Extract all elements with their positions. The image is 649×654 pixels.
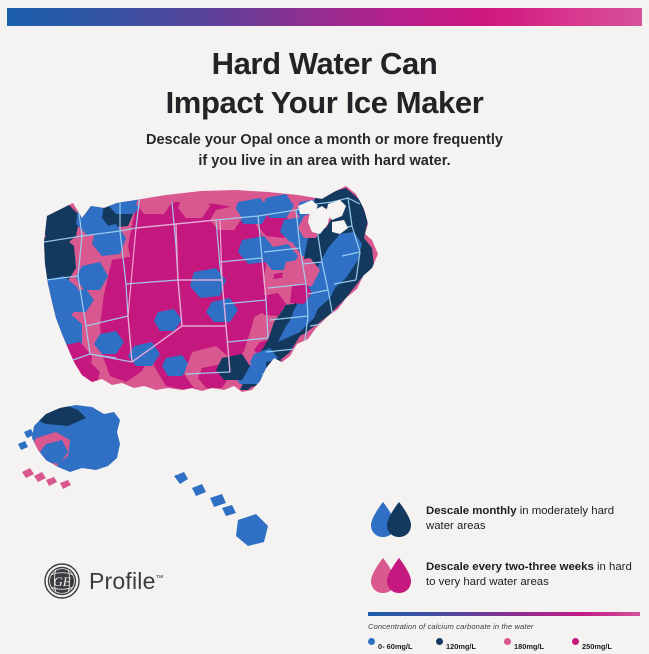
svg-text:GE: GE (53, 574, 70, 589)
subtitle-line-1: Descale your Opal once a month or more f… (0, 130, 649, 151)
page-title: Hard Water Can Impact Your Ice Maker (0, 44, 649, 122)
swatch-value-hard: 180mg/L (514, 642, 544, 651)
swatch-very-hard: 250mg/L (Very Hard) (572, 636, 640, 654)
scale-caption: Concentration of calcium carbonate in th… (368, 622, 640, 631)
brand-trademark: ™ (156, 573, 164, 582)
swatch-dot-moderately-hard (436, 638, 443, 645)
concentration-scale-bar (368, 612, 640, 616)
swatch-value-soft: 0- 60mg/L (378, 642, 413, 651)
legend-text-moderate: Descale monthly in moderately hard water… (426, 500, 640, 534)
map-alaska (16, 401, 136, 491)
swatch-dot-hard (504, 638, 511, 645)
ge-monogram-logo: GE (44, 563, 80, 599)
legend-panel: Descale monthly in moderately hard water… (368, 500, 640, 654)
swatch-text-moderately-hard: 120mg/L (Moderately Hard) (446, 636, 489, 654)
brand-name: Profile™ (89, 568, 164, 595)
swatch-hard: 180mg/L (Hard) (504, 636, 572, 654)
title-line-1: Hard Water Can (0, 44, 649, 83)
top-gradient-bar (7, 8, 642, 26)
legend-text-hard: Descale every two-three weeks in hard to… (426, 556, 640, 590)
legend-bold-moderate: Descale monthly (426, 505, 517, 517)
us-water-hardness-map (16, 176, 396, 576)
title-line-2: Impact Your Ice Maker (0, 83, 649, 122)
swatch-moderately-hard: 120mg/L (Moderately Hard) (436, 636, 504, 654)
swatch-soft: 0- 60mg/L (Soft) (368, 636, 436, 654)
swatch-text-very-hard: 250mg/L (Very Hard) (582, 636, 612, 654)
subtitle: Descale your Opal once a month or more f… (0, 130, 649, 172)
swatch-dot-soft (368, 638, 375, 645)
swatch-text-hard: 180mg/L (Hard) (514, 636, 544, 654)
swatch-value-moderately-hard: 120mg/L (446, 642, 476, 651)
legend-bold-hard: Descale every two-three weeks (426, 561, 594, 573)
blue-water-drops-icon (368, 500, 416, 542)
infographic-poster: Hard Water Can Impact Your Ice Maker Des… (0, 0, 649, 654)
legend-row-moderate: Descale monthly in moderately hard water… (368, 500, 640, 542)
map-hawaii (174, 472, 268, 546)
swatch-value-very-hard: 250mg/L (582, 642, 612, 651)
swatch-text-soft: 0- 60mg/L (Soft) (378, 636, 413, 654)
legend-row-hard: Descale every two-three weeks in hard to… (368, 556, 640, 598)
swatch-dot-very-hard (572, 638, 579, 645)
brand-name-text: Profile (89, 568, 156, 594)
brand-logo: GE Profile™ (44, 563, 164, 599)
scale-swatches: 0- 60mg/L (Soft) 120mg/L (Moderately Har… (368, 636, 640, 654)
subtitle-line-2: if you live in an area with hard water. (0, 151, 649, 172)
pink-water-drops-icon (368, 556, 416, 598)
